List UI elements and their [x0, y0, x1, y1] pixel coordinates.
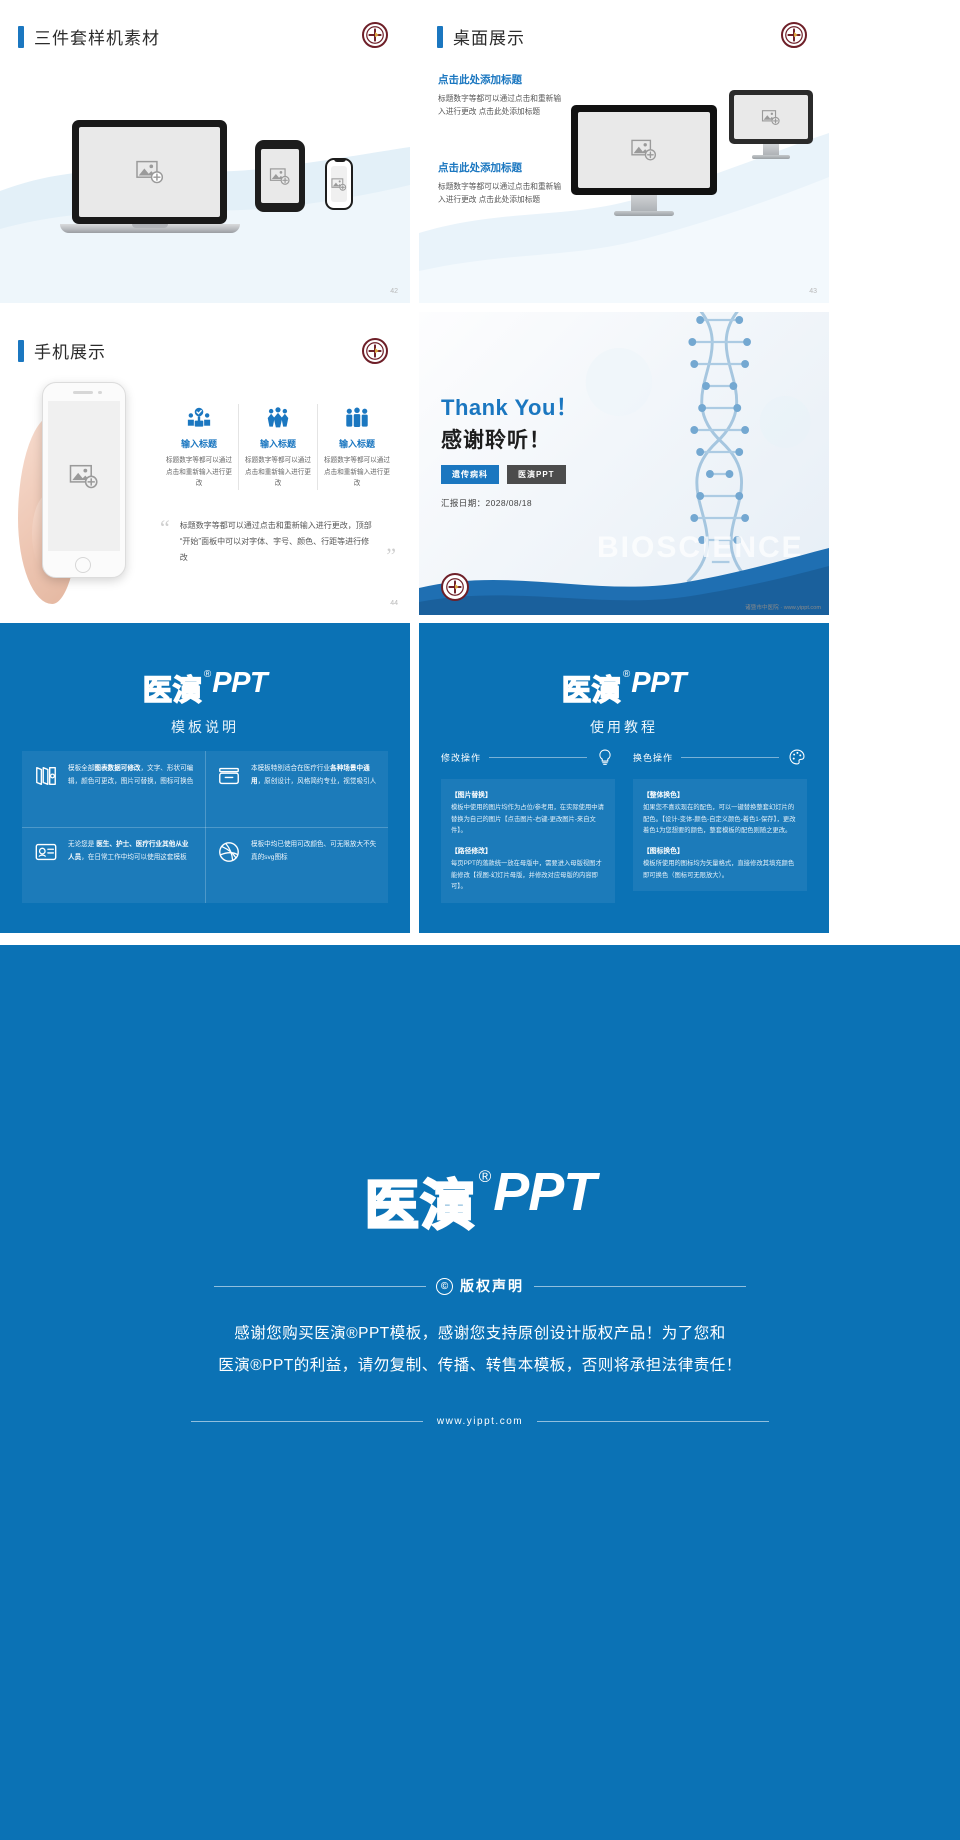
title-accent-bar — [18, 26, 24, 48]
monitor-foot — [752, 155, 790, 159]
brand-name-cn: 医演 — [143, 667, 203, 709]
image-placeholder-icon — [331, 177, 347, 192]
tablet-mockup — [255, 140, 305, 212]
feature-column-1[interactable]: 输入标题 标题数字等都可以通过点击和重新输入进行更改 — [160, 404, 238, 490]
tutorial-items-box: 【整体换色】 如果您不喜欢现在的配色，可以一键替换整套幻灯片的配色。【设计-变体… — [633, 779, 807, 891]
dribbble-ball-icon-glyph — [217, 840, 241, 864]
layers-book-icon — [33, 763, 59, 789]
slide-page-number: 42 — [390, 288, 398, 295]
feature-body: 标题数字等都可以通过点击和重新输入进行更改 — [323, 455, 391, 490]
brand-logo-lockup: 医演 ® PPT — [419, 667, 829, 709]
feature-card-2[interactable]: 本模板特别适合在医疗行业各种场景中通用，原创设计，风格简约专业，视觉吸引人 — [205, 751, 388, 827]
website-url[interactable]: www.yippt.com — [437, 1416, 523, 1427]
medical-cross-logo-glyph — [785, 26, 803, 44]
monitor-screen — [571, 105, 717, 195]
palette-icon — [787, 747, 807, 767]
tutorial-columns: 修改操作 【图片替换】 模板中使用的图片均作为占位/参考用，在实际使用中请替换为… — [441, 747, 807, 903]
people-three-icon-glyph — [345, 406, 369, 430]
tutorial-item-title: 【图片替换】 — [451, 789, 605, 799]
monitor-screen-content — [734, 95, 808, 139]
block-body: 标题数字等都可以通过点击和重新输入进行更改 点击此处添加标题 — [438, 92, 563, 118]
header-rule — [489, 757, 587, 758]
hand-holding-phone — [18, 374, 158, 604]
website-row: www.yippt.com — [0, 1416, 960, 1427]
monitor-foot — [614, 211, 674, 216]
archive-box-icon-glyph — [217, 764, 241, 788]
phone-screen-content — [48, 401, 120, 551]
medical-cross-logo — [362, 338, 388, 364]
phone-speaker — [73, 391, 93, 394]
tutorial-item-title: 【图标换色】 — [643, 845, 797, 855]
medical-cross-logo — [441, 573, 469, 601]
lightbulb-icon — [595, 747, 615, 767]
medical-cross-logo — [362, 22, 388, 48]
feature-cards-grid: 模板全部图表数据可修改，文字、形状可编辑，颜色可更改，图片可替换，图标可换色 本… — [22, 751, 388, 903]
tutorial-column-title: 换色操作 — [633, 751, 673, 764]
divider-left — [191, 1421, 423, 1422]
people-group-icon-glyph — [266, 406, 290, 430]
tutorial-item: 【图标换色】 模板所使用的图标均为矢量格式，直接修改其填充颜色即可换色（图标可无… — [643, 845, 797, 881]
person-check-team-icon — [165, 404, 233, 430]
block-heading: 点击此处添加标题 — [438, 160, 563, 175]
laptop-mockup — [60, 120, 240, 240]
tutorial-item-desc: 模板中使用的图片均作为占位/参考用，在实际使用中请替换为自己的图片【点击图片-右… — [451, 802, 605, 837]
phone-device — [42, 382, 126, 578]
divider-right — [534, 1286, 746, 1287]
feature-body: 标题数字等都可以通过点击和重新输入进行更改 — [165, 455, 233, 490]
slide-desktop[interactable]: 桌面展示 点击此处添加标题 标题数字等都可以通过点击和重新输入进行更改 点击此处… — [419, 0, 829, 303]
tutorial-column-edit: 修改操作 【图片替换】 模板中使用的图片均作为占位/参考用，在实际使用中请替换为… — [441, 747, 615, 903]
image-placeholder-icon — [761, 109, 781, 126]
brand-name-cn: 医演 — [562, 667, 622, 709]
phone-camera — [98, 391, 102, 395]
phone-mockup — [325, 158, 353, 210]
phone-home-button — [75, 557, 91, 573]
brand-registered-mark: ® — [623, 669, 630, 680]
tablet-screen-content — [261, 149, 299, 203]
id-card-icon-glyph — [34, 840, 58, 864]
dribbble-ball-icon — [216, 839, 242, 865]
monitor-screen-content — [578, 112, 710, 188]
id-card-icon — [33, 839, 59, 865]
tutorial-column-title: 修改操作 — [441, 751, 481, 764]
slide-subtitle: 使用教程 — [419, 717, 829, 737]
feature-body: 标题数字等都可以通过点击和重新输入进行更改 — [244, 455, 312, 490]
brand-name-ppt: PPT — [493, 1161, 595, 1223]
tutorial-items-box: 【图片替换】 模板中使用的图片均作为占位/参考用，在实际使用中请替换为自己的图片… — [441, 779, 615, 903]
slide-thanks[interactable]: BIOSCIENCE Thank You！ 感谢聆听！ 遗传病科 医演PPT 汇… — [419, 312, 829, 615]
feature-card-3[interactable]: 无论您是 医生、护士、医疗行业其他从业人员，在日常工作中均可以使用这套模板 — [22, 827, 205, 903]
feature-card-1[interactable]: 模板全部图表数据可修改，文字、形状可编辑，颜色可更改，图片可替换，图标可换色 — [22, 751, 205, 827]
copyright-section: 医演 ® PPT © 版权声明 感谢您购买医演®PPT模板，感谢您支持原创设计版… — [0, 945, 960, 1840]
report-date: 汇报日期：2028/08/18 — [441, 497, 578, 509]
tutorial-item-desc: 如果您不喜欢现在的配色，可以一键替换整套幻灯片的配色。【设计-变体-颜色-自定义… — [643, 802, 797, 837]
brand-logo-lockup: 医演 ® PPT — [0, 667, 410, 709]
page-title: 桌面展示 — [453, 24, 525, 49]
brand-name-cn: 医演 — [365, 1161, 477, 1240]
feature-card-text: 模板全部图表数据可修改，文字、形状可编辑，颜色可更改，图片可替换，图标可换色 — [68, 763, 194, 789]
tutorial-item-desc: 每页PPT的落款统一放在母版中，需要进入母版视图才能修改【视图-幻灯片母版，并修… — [451, 858, 605, 893]
feature-column-3[interactable]: 输入标题 标题数字等都可以通过点击和重新输入进行更改 — [317, 404, 396, 490]
title-accent-bar — [18, 340, 24, 362]
monitor-mockup-large — [571, 105, 717, 216]
feature-card-text: 无论您是 医生、护士、医疗行业其他从业人员，在日常工作中均可以使用这套模板 — [68, 839, 194, 865]
quote-open-icon: “ — [160, 518, 170, 538]
monitor-screen — [729, 90, 813, 144]
copyright-line-2: 医演®PPT的利益，请勿复制、传播、转售本模板，否则将承担法律责任！ — [0, 1350, 960, 1382]
people-group-icon — [244, 404, 312, 430]
monitor-neck — [763, 144, 779, 155]
tutorial-item: 【路径修改】 每页PPT的落款统一放在母版中，需要进入母版视图才能修改【视图-幻… — [451, 845, 605, 893]
feature-heading: 输入标题 — [165, 437, 233, 450]
header-rule — [681, 757, 779, 758]
medical-cross-logo-glyph — [366, 342, 384, 360]
phone-screen-content — [331, 166, 347, 202]
medical-cross-logo-glyph — [446, 578, 464, 596]
slide-desktop-title-group: 桌面展示 — [437, 24, 525, 49]
monitor-neck — [631, 195, 657, 211]
slide-devices[interactable]: 三件套样机素材 — [0, 0, 410, 303]
card-grid-divider-horizontal — [22, 827, 388, 828]
slides-preview-page: 三件套样机素材 — [0, 0, 960, 1840]
divider-right — [537, 1421, 769, 1422]
page-title: 手机展示 — [34, 338, 106, 363]
tutorial-item-title: 【路径修改】 — [451, 845, 605, 855]
laptop-trackpad-notch — [132, 224, 168, 228]
quote-block: “ 标题数字等都可以通过点击和重新输入进行更改，顶部“开始”面板中可以对字体、字… — [160, 518, 396, 566]
copyright-icon: © — [436, 1278, 453, 1295]
laptop-screen — [72, 120, 227, 224]
monitor-mockup-small — [729, 90, 813, 159]
slide-mobile[interactable]: 手机展示 — [0, 312, 410, 615]
slide-mobile-title-group: 手机展示 — [18, 338, 106, 363]
feature-heading: 输入标题 — [244, 437, 312, 450]
tutorial-item-title: 【整体换色】 — [643, 789, 797, 799]
tutorial-item-desc: 模板所使用的图标均为矢量格式，直接修改其填充颜色即可换色（图标可无限放大）。 — [643, 858, 797, 881]
slide-tutorial[interactable]: 医演 ® PPT 使用教程 修改操作 — [419, 623, 829, 933]
brand-registered-mark: ® — [204, 669, 211, 680]
desktop-text-block-2: 点击此处添加标题 标题数字等都可以通过点击和重新输入进行更改 点击此处添加标题 — [438, 160, 563, 206]
phone-notch — [334, 159, 346, 162]
image-placeholder-icon — [68, 463, 100, 490]
badge-brand[interactable]: 医演PPT — [507, 465, 566, 484]
slide-template-notes[interactable]: 医演 ® PPT 模板说明 模板全部图表数据可修改，文字、形状可编辑，颜色可更改… — [0, 623, 410, 933]
tutorial-column-header: 修改操作 — [441, 747, 615, 773]
slide-page-number: 44 — [390, 600, 398, 607]
tutorial-item: 【图片替换】 模板中使用的图片均作为占位/参考用，在实际使用中请替换为自己的图片… — [451, 789, 605, 837]
final-brand-lockup: 医演 ® PPT — [0, 945, 960, 1240]
thanks-title-cn: 感谢聆听！ — [441, 424, 578, 454]
laptop-screen-content — [79, 127, 220, 217]
tutorial-column-header: 换色操作 — [633, 747, 807, 773]
image-placeholder-icon — [630, 138, 658, 162]
copyright-title: 版权声明 — [460, 1276, 524, 1296]
block-heading: 点击此处添加标题 — [438, 72, 563, 87]
feature-card-text: 模板中均已使用可改颜色、可无限放大不失真的svg图标 — [251, 839, 377, 865]
slide-devices-title-group: 三件套样机素材 — [18, 24, 160, 49]
feature-column-2[interactable]: 输入标题 标题数字等都可以通过点击和重新输入进行更改 — [238, 404, 317, 490]
brand-name-ppt: PPT — [212, 667, 267, 700]
page-title: 三件套样机素材 — [34, 24, 160, 49]
people-three-icon — [323, 404, 391, 430]
desktop-text-block-1: 点击此处添加标题 标题数字等都可以通过点击和重新输入进行更改 点击此处添加标题 — [438, 72, 563, 118]
slide-footer-credit: 诸暨市中医院 · www.yippt.com — [745, 603, 821, 611]
divider-left — [214, 1286, 426, 1287]
block-body: 标题数字等都可以通过点击和重新输入进行更改 点击此处添加标题 — [438, 180, 563, 206]
slide-subtitle: 模板说明 — [0, 717, 410, 737]
brand-registered-mark: ® — [479, 1167, 492, 1187]
section-gap — [0, 933, 960, 945]
medical-cross-logo — [781, 22, 807, 48]
thanks-badges: 遗传病科 医演PPT — [441, 465, 578, 484]
layers-book-icon-glyph — [34, 764, 58, 788]
lightbulb-icon-glyph — [596, 748, 614, 766]
copyright-paragraph: 感谢您购买医演®PPT模板，感谢您支持原创设计版权产品！为了您和 医演®PPT的… — [0, 1318, 960, 1382]
feature-card-4[interactable]: 模板中均已使用可改颜色、可无限放大不失真的svg图标 — [205, 827, 388, 903]
feature-columns: 输入标题 标题数字等都可以通过点击和重新输入进行更改 输入标题 标题数字等都可以… — [160, 404, 396, 490]
quote-close-icon: ” — [386, 546, 396, 566]
slide-page-number: 43 — [809, 288, 817, 295]
title-accent-bar — [437, 26, 443, 48]
feature-heading: 输入标题 — [323, 437, 391, 450]
tutorial-item: 【整体换色】 如果您不喜欢现在的配色，可以一键替换整套幻灯片的配色。【设计-变体… — [643, 789, 797, 837]
feature-card-text: 本模板特别适合在医疗行业各种场景中通用，原创设计，风格简约专业，视觉吸引人 — [251, 763, 377, 789]
image-placeholder-icon — [269, 167, 291, 186]
image-placeholder-icon — [135, 159, 165, 185]
archive-box-icon — [216, 763, 242, 789]
badge-department[interactable]: 遗传病科 — [441, 465, 499, 484]
palette-icon-glyph — [788, 748, 806, 766]
copyright-line-1: 感谢您购买医演®PPT模板，感谢您支持原创设计版权产品！为了您和 — [0, 1318, 960, 1350]
medical-cross-logo-glyph — [366, 26, 384, 44]
thanks-text-block: Thank You！ 感谢聆听！ 遗传病科 医演PPT 汇报日期：2028/08… — [441, 390, 578, 509]
brand-name-ppt: PPT — [631, 667, 686, 700]
person-check-team-icon-glyph — [187, 406, 211, 430]
tutorial-column-color: 换色操作 【整体换色】 如 — [633, 747, 807, 903]
quote-text: 标题数字等都可以通过点击和重新输入进行更改，顶部“开始”面板中可以对字体、字号、… — [180, 518, 376, 566]
copyright-heading: © 版权声明 — [436, 1276, 524, 1296]
thanks-title-en: Thank You！ — [441, 390, 578, 422]
copyright-heading-row: © 版权声明 — [0, 1276, 960, 1296]
